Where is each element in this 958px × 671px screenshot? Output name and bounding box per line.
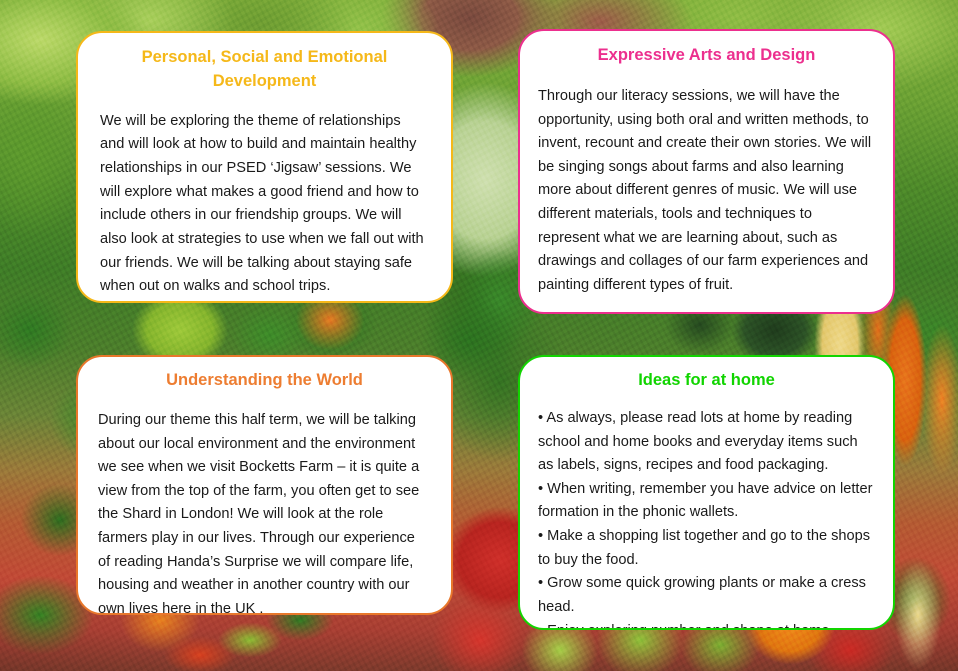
curriculum-poster: Personal, Social and Emotional Developme…: [0, 0, 958, 671]
card-title-psed: Personal, Social and Emotional Developme…: [100, 46, 429, 94]
card-body-utw: During our theme this half term, we will…: [98, 409, 431, 615]
list-item: • Make a shopping list together and go t…: [538, 525, 875, 572]
list-item: • When writing, remember you have advice…: [538, 478, 875, 525]
card-title-ead: Expressive Arts and Design: [538, 44, 875, 68]
card-body-ead: Through our literacy sessions, we will h…: [538, 85, 875, 298]
card-body-psed: We will be exploring the theme of relati…: [100, 110, 429, 299]
card-body-home: • As always, please read lots at home by…: [538, 407, 875, 630]
card-title-utw: Understanding the World: [98, 369, 431, 393]
list-item: • As always, please read lots at home by…: [538, 407, 875, 478]
list-item: • Enjoy exploring number and shape at ho…: [538, 620, 875, 630]
card-ideas-for-at-home: Ideas for at home • As always, please re…: [518, 355, 895, 630]
card-title-home: Ideas for at home: [538, 369, 875, 393]
card-understanding-the-world: Understanding the World During our theme…: [76, 355, 453, 615]
card-personal-social-emotional-development: Personal, Social and Emotional Developme…: [76, 31, 453, 303]
list-item: • Grow some quick growing plants or make…: [538, 572, 875, 619]
card-expressive-arts-and-design: Expressive Arts and Design Through our l…: [518, 29, 895, 314]
